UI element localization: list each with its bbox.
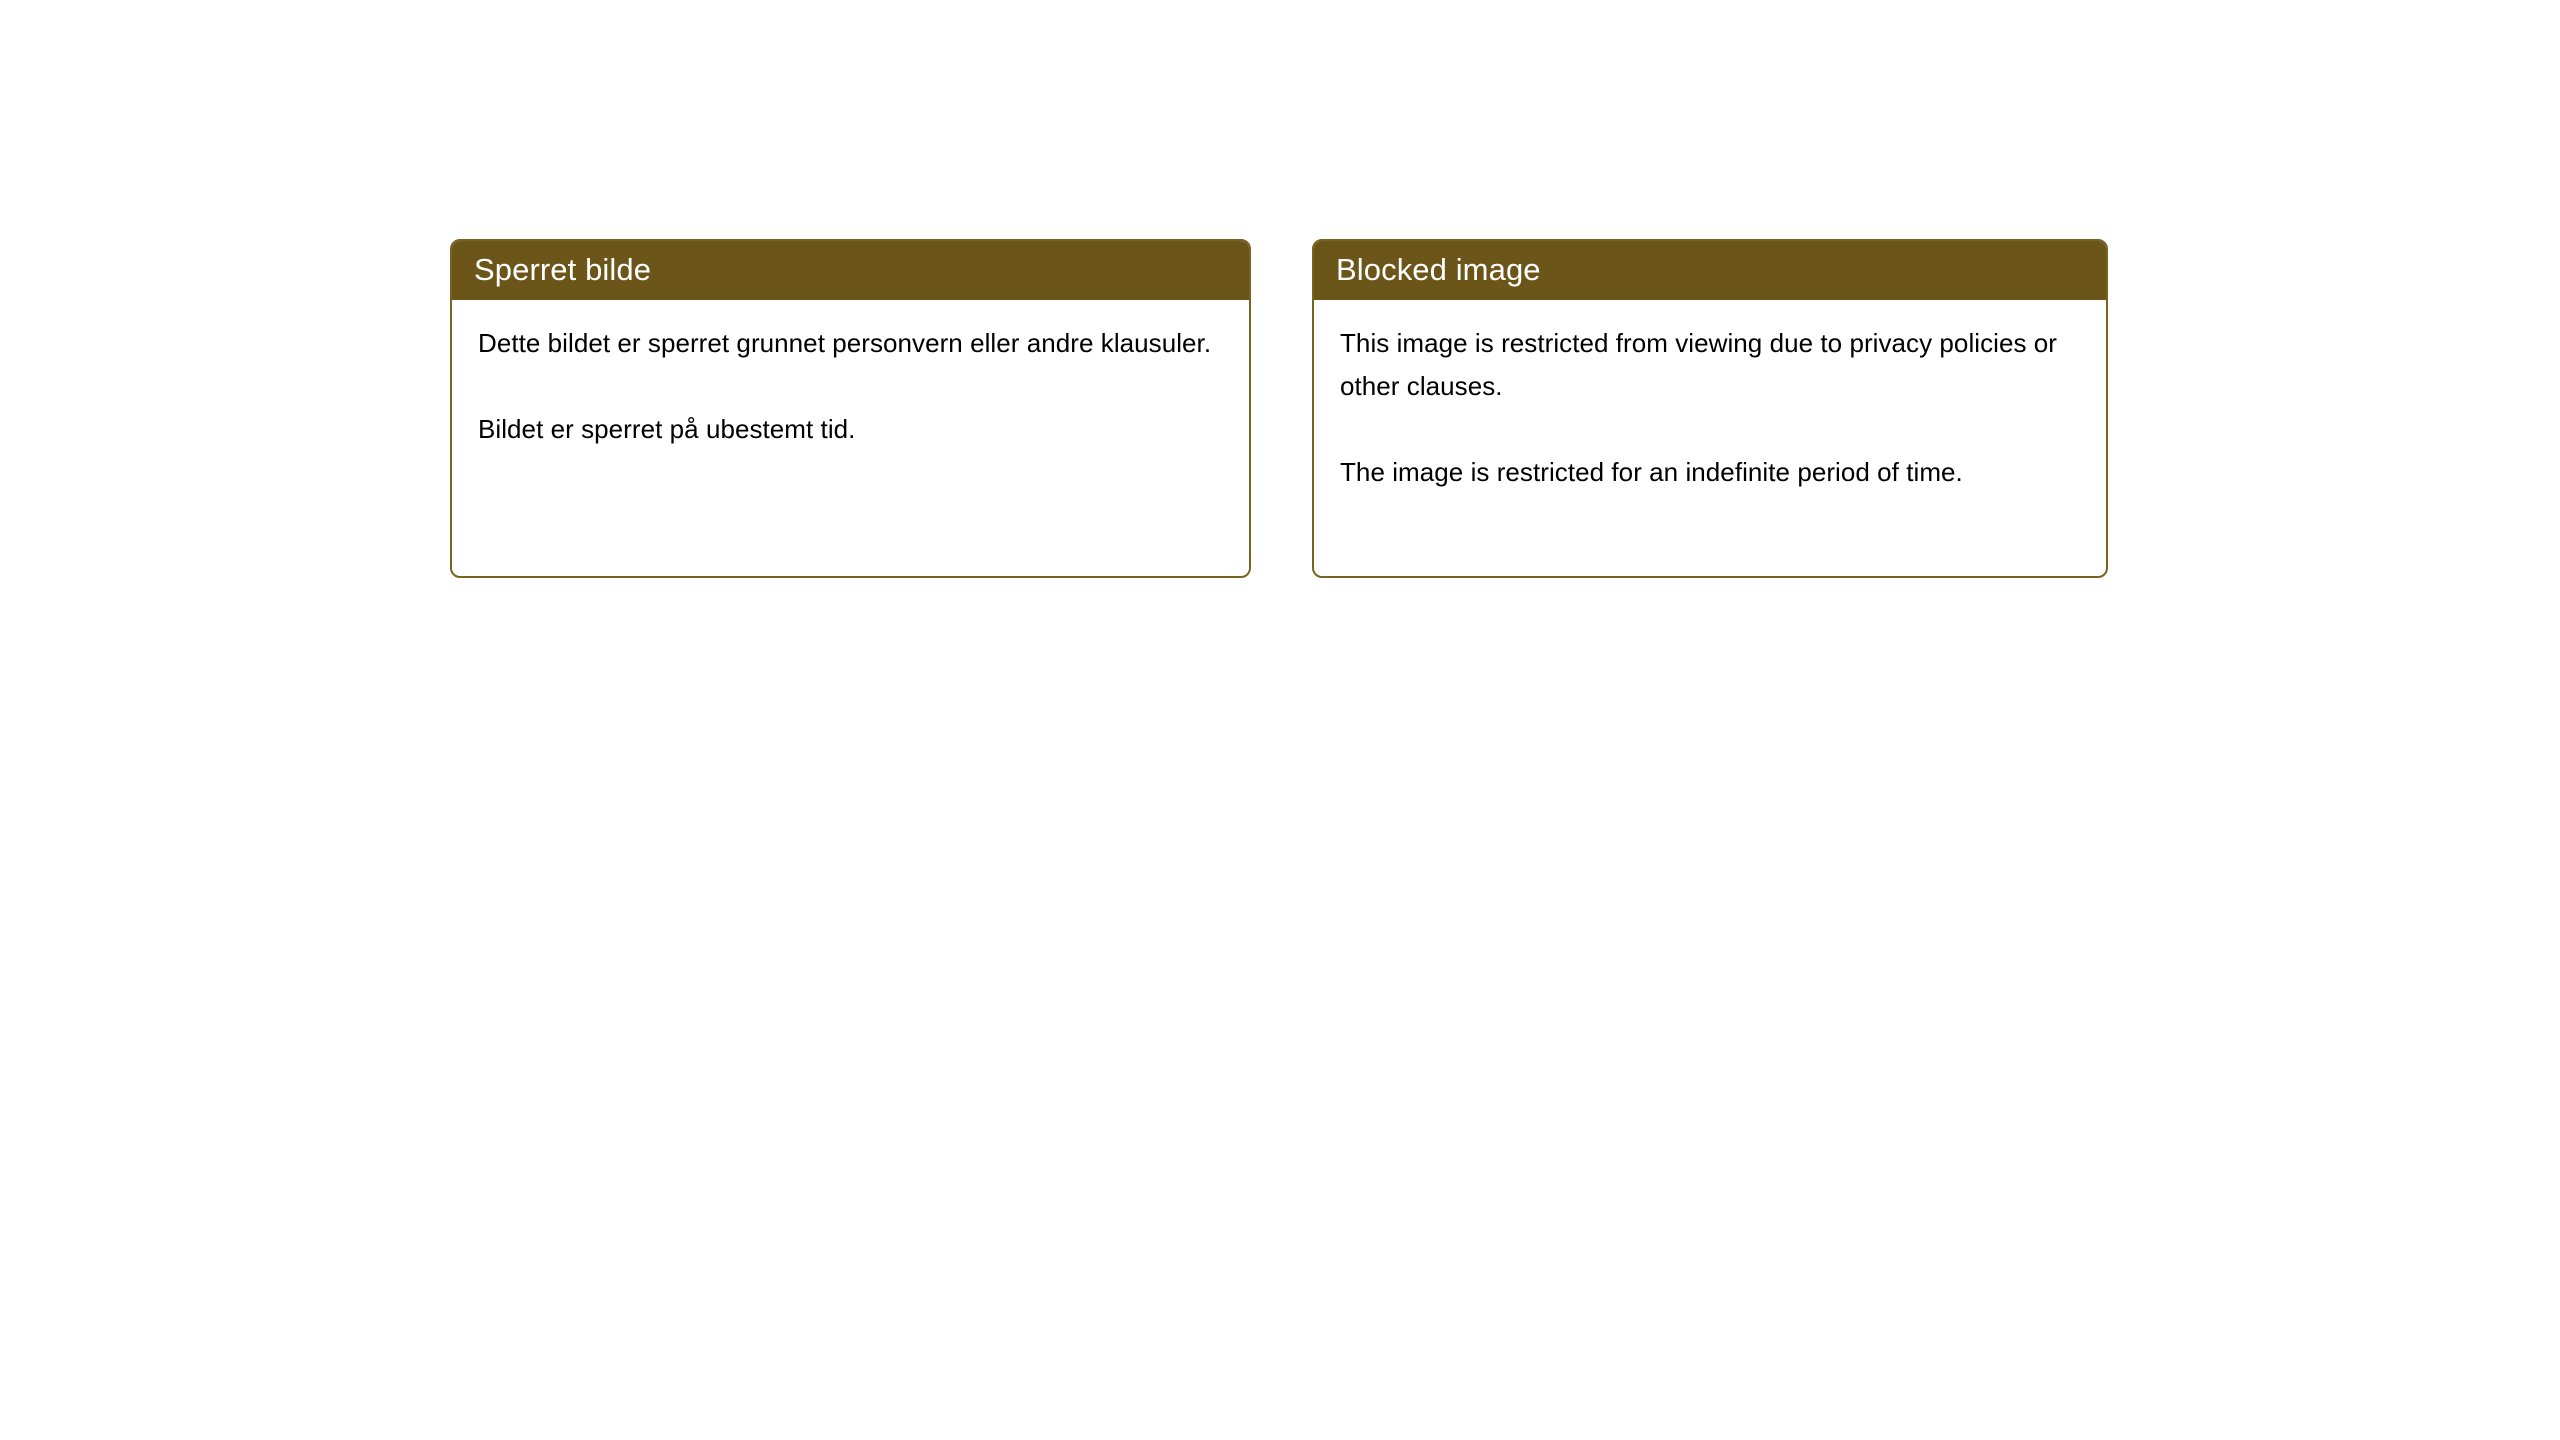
page-canvas: Sperret bilde Dette bildet er sperret gr…	[0, 0, 2560, 1440]
blocked-image-notice-english: Blocked image This image is restricted f…	[1312, 239, 2108, 578]
blocked-image-notice-norwegian: Sperret bilde Dette bildet er sperret gr…	[450, 239, 1251, 578]
paragraph-spacer	[1340, 408, 2080, 451]
card-header-english: Blocked image	[1312, 239, 2108, 300]
notice-paragraph-secondary-english: The image is restricted for an indefinit…	[1340, 451, 2080, 494]
notice-paragraph-primary-norwegian: Dette bildet er sperret grunnet personve…	[478, 322, 1223, 365]
card-body-norwegian: Dette bildet er sperret grunnet personve…	[452, 300, 1249, 451]
paragraph-spacer	[478, 365, 1223, 408]
card-body-english: This image is restricted from viewing du…	[1314, 300, 2106, 494]
notice-paragraph-secondary-norwegian: Bildet er sperret på ubestemt tid.	[478, 408, 1223, 451]
card-title-norwegian: Sperret bilde	[474, 254, 651, 285]
card-title-english: Blocked image	[1336, 254, 1541, 285]
notice-paragraph-primary-english: This image is restricted from viewing du…	[1340, 322, 2080, 408]
card-header-norwegian: Sperret bilde	[450, 239, 1251, 300]
